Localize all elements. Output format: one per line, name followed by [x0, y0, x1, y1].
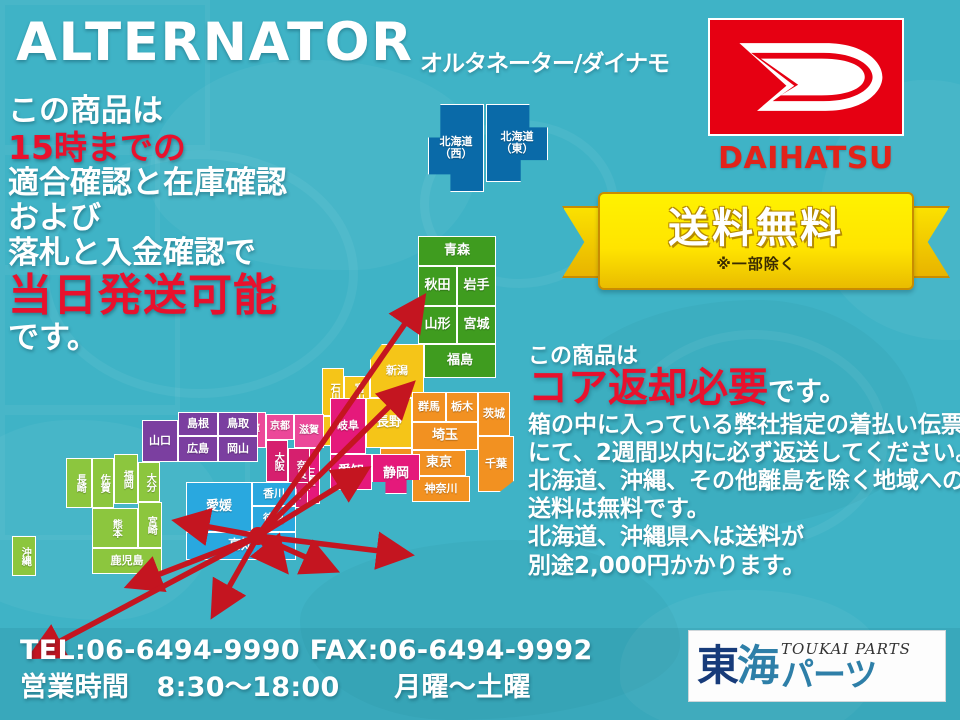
right-copy-body: 箱の中に入っている弊社指定の着払い伝票 にて、2週間以内に必ず返送してください。…	[528, 411, 956, 579]
flyer-root: ALTERNATOR オルタネーター/ダイナモ この商品は 15時までの 適合確…	[0, 0, 960, 720]
pref-hokkaido-west[interactable]: 北海道（西）	[428, 104, 484, 192]
right-copy-headline: コア返却必要です。	[528, 367, 956, 409]
hours-line: 営業時間 8:30〜18:00 月曜〜土曜	[20, 670, 593, 706]
free-shipping-ribbon: 送料無料 ※一部除く	[562, 192, 950, 290]
arrow-origin-hub	[249, 527, 267, 545]
right-copy-body-5: 北海道、沖縄県へは送料が	[528, 523, 956, 551]
right-copy-block: この商品は コア返却必要です。 箱の中に入っている弊社指定の着払い伝票 にて、2…	[528, 344, 956, 580]
right-copy-body-1: 箱の中に入っている弊社指定の着払い伝票	[528, 411, 956, 439]
right-copy-body-2: にて、2週間以内に必ず返送してください。	[528, 439, 956, 467]
arrow-to-hokkaido	[258, 302, 420, 536]
ribbon-main-text: 送料無料	[668, 208, 844, 249]
daihatsu-logo: DAIHATSU	[708, 18, 904, 176]
footer-contact: TEL:06-6494-9990 FAX:06-6494-9992 営業時間 8…	[20, 633, 593, 706]
arrow-group	[36, 302, 420, 654]
contact-line: TEL:06-6494-9990 FAX:06-6494-9992	[20, 633, 593, 669]
right-copy-body-4: 送料は無料です。	[528, 495, 956, 523]
shop-logo: 東海 TOUKAI PARTS パーツ	[688, 630, 946, 702]
shop-logo-kanji: 東海	[697, 645, 777, 687]
daihatsu-d-icon	[710, 20, 902, 134]
core-return-suffix: です。	[768, 377, 846, 408]
shipping-arrows	[0, 192, 560, 692]
shop-logo-kana: パーツ	[781, 658, 911, 691]
ribbon-panel: 送料無料 ※一部除く	[598, 192, 914, 290]
ribbon-note-text: ※一部除く	[716, 253, 796, 274]
page-subtitle: オルタネーター/ダイナモ	[420, 44, 669, 78]
shop-kanji-1: 東	[697, 641, 737, 690]
arrow-to-chugoku	[182, 522, 258, 536]
daihatsu-emblem-plate	[708, 18, 904, 136]
right-copy-body-3: 北海道、沖縄、その他離島を除く地域への	[528, 467, 956, 495]
page-title: ALTERNATOR	[16, 16, 413, 69]
daihatsu-wordmark: DAIHATSU	[708, 141, 904, 176]
pref-label: 北海道（西）	[440, 136, 473, 159]
arrow-to-tohoku	[258, 388, 408, 536]
shop-kanji-2: 海	[737, 641, 777, 690]
pref-hokkaido-east[interactable]: 北海道（東）	[486, 104, 548, 182]
pref-label: 北海道（東）	[501, 131, 534, 154]
shop-logo-right: TOUKAI PARTS パーツ	[781, 642, 911, 691]
core-return-red: コア返却必要	[528, 365, 768, 411]
right-copy-body-6: 別途2,000円かかります。	[528, 552, 956, 580]
japan-map: 北海道（西） 北海道（東） 青森 秋田 岩手 山形 宮城 福島 新潟 石川 富山…	[0, 96, 560, 596]
